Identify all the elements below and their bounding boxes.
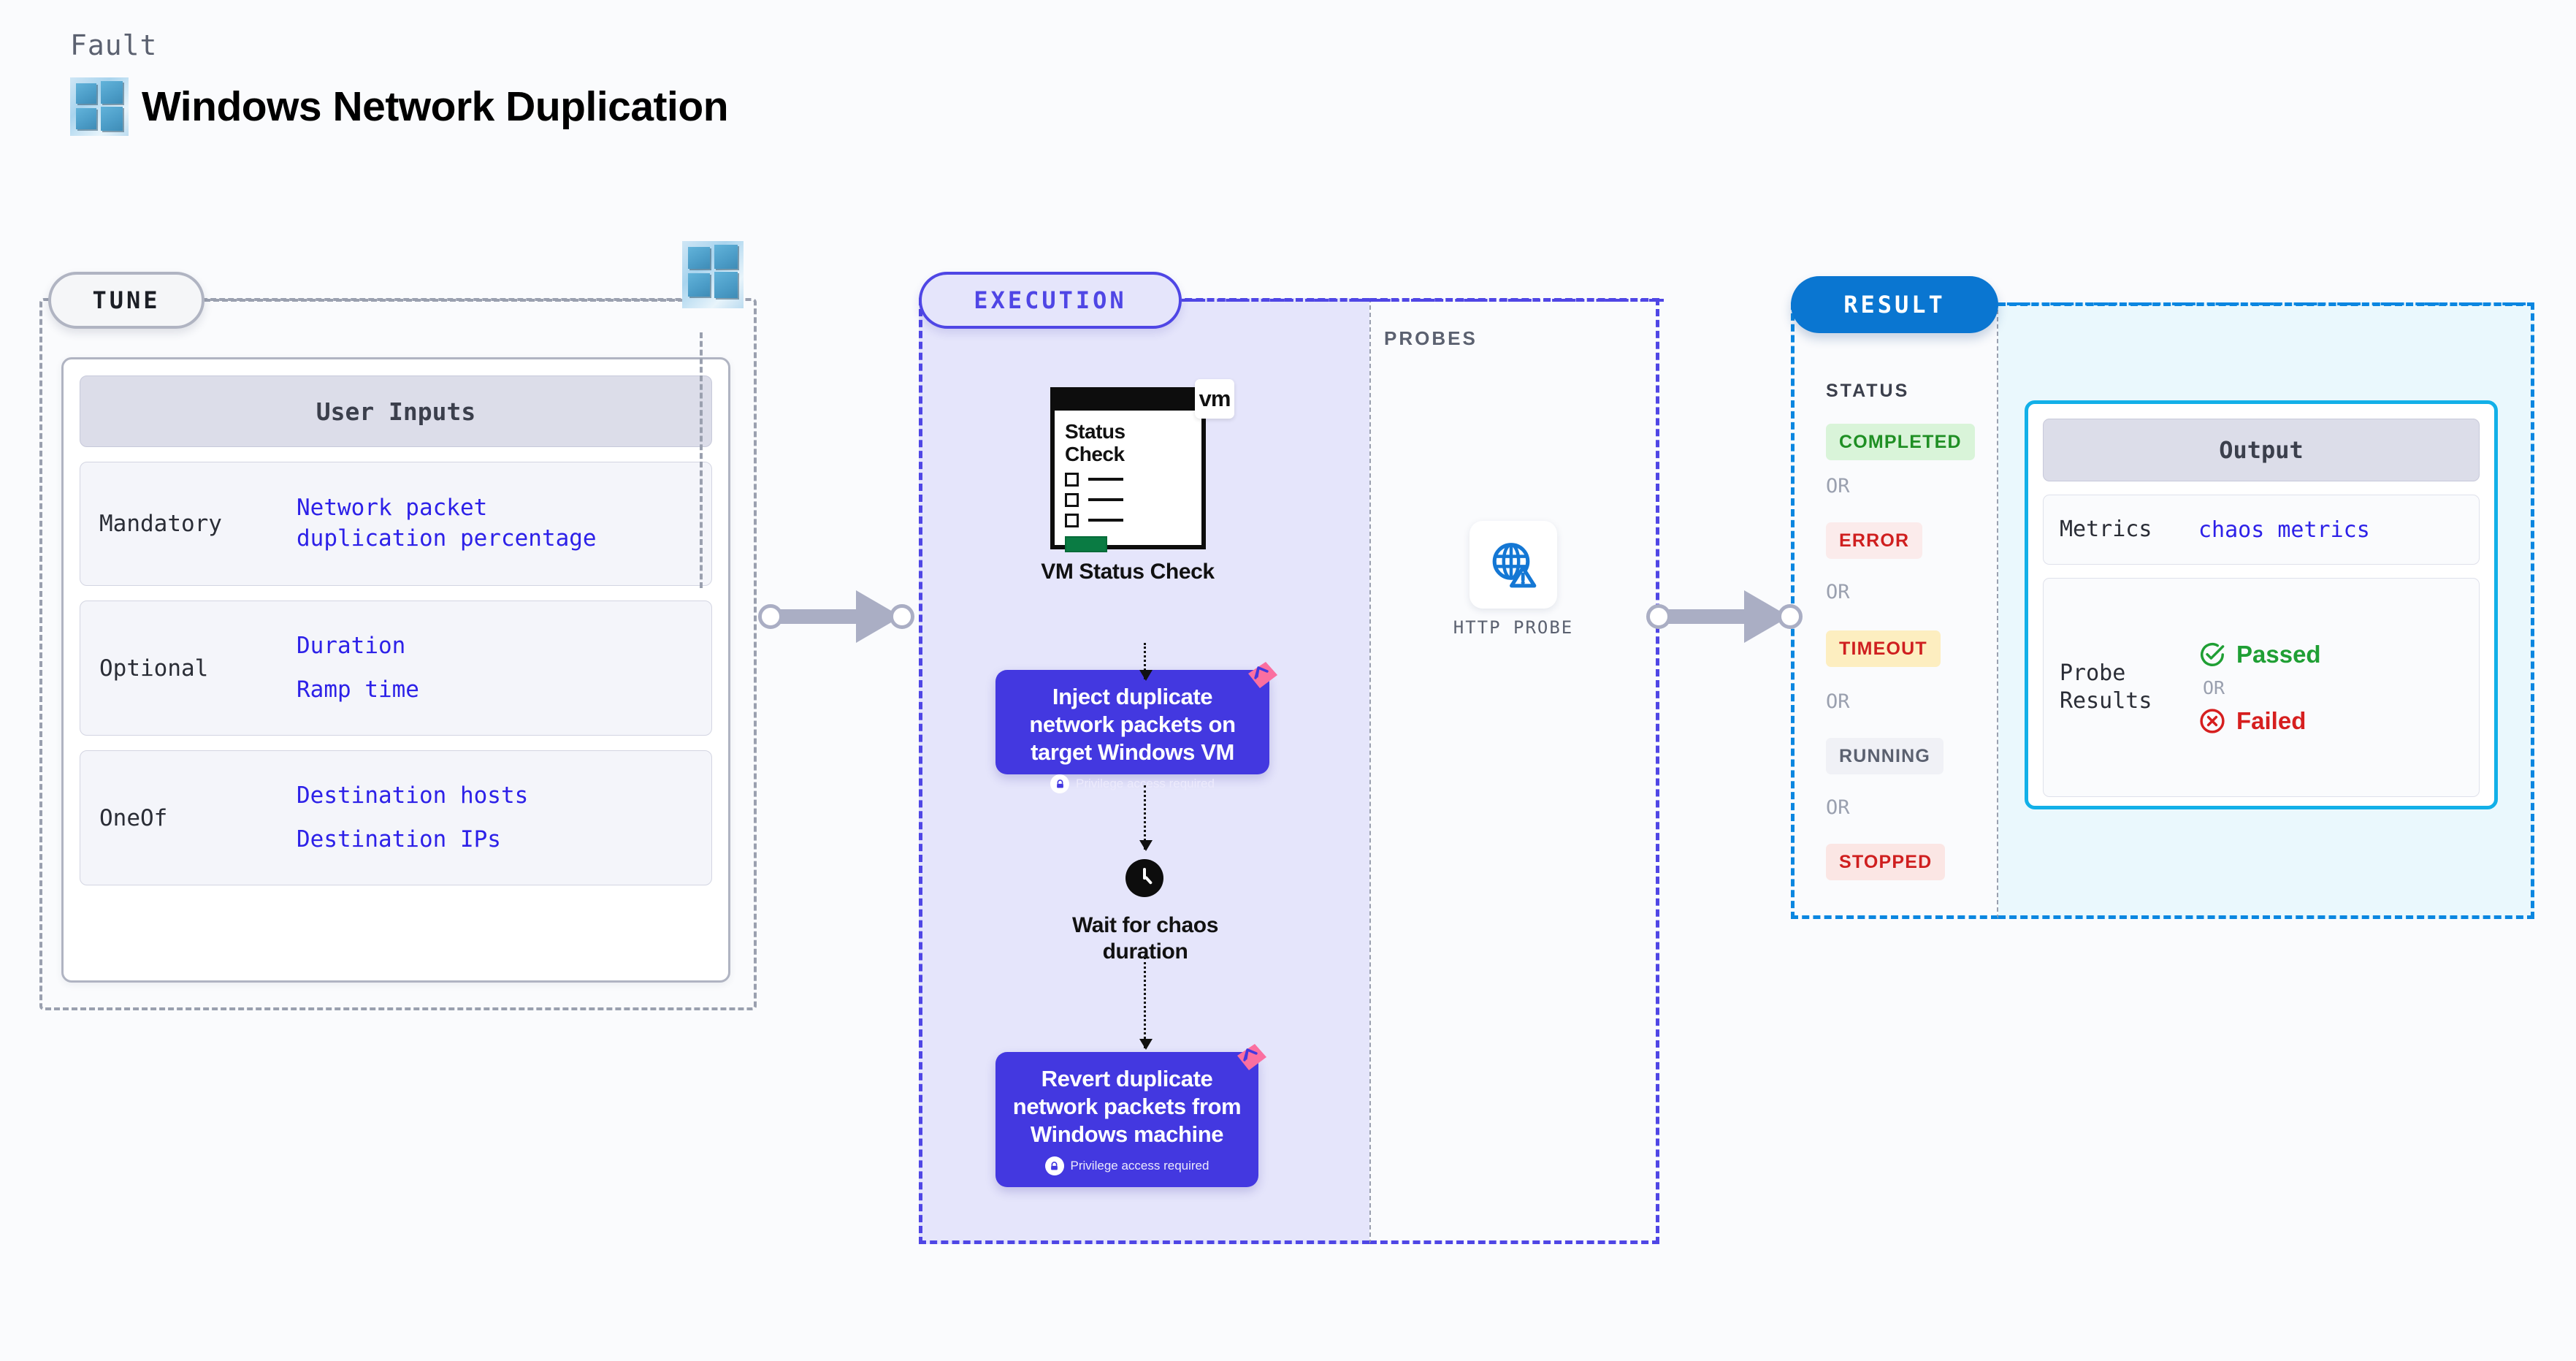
status-badge-label: RUNNING: [1839, 746, 1930, 767]
status-badge-label: STOPPED: [1839, 852, 1932, 873]
tune-connector-line: [205, 299, 701, 302]
status-badge-stopped[interactable]: STOPPED: [1826, 844, 1945, 880]
x-circle-icon: [2198, 707, 2226, 735]
status-badge-error[interactable]: ERROR: [1826, 522, 1922, 559]
execution-connector-line: [1182, 299, 1664, 302]
clock-icon: [1125, 859, 1163, 897]
tune-connector-vline: [700, 332, 703, 588]
passed-label: Passed: [2236, 641, 2321, 668]
vm-checklist-row: [1065, 493, 1201, 507]
arrow-start-dot: [758, 604, 783, 629]
status-or-1: OR: [1826, 475, 1850, 497]
probe-results-values: Passed OR Failed: [2198, 641, 2321, 735]
output-row-probe-results[interactable]: Probe Results Passed OR Failed: [2043, 578, 2480, 797]
vm-checklist-row: [1065, 473, 1201, 487]
output-header: Output: [2043, 419, 2480, 481]
execution-pill[interactable]: EXECUTION: [919, 272, 1182, 329]
vm-status-check-icon: Status Check vm: [1050, 387, 1206, 549]
result-connector-line: [1998, 302, 2534, 305]
input-row-label: Mandatory: [99, 511, 297, 537]
vm-status-bar: [1065, 536, 1107, 552]
mandatory-value-line2: duplication percentage: [297, 525, 597, 552]
input-row-values: Duration Ramp time: [297, 631, 419, 706]
http-probe-caption: HTTP PROBE: [1426, 617, 1601, 638]
lock-icon: [1045, 1156, 1064, 1175]
oneof-value-hosts: Destination hosts: [297, 782, 528, 809]
inject-chaos-step[interactable]: Inject duplicate network packets on targ…: [995, 670, 1269, 774]
probe-or: OR: [2203, 677, 2321, 698]
status-badge-label: TIMEOUT: [1839, 638, 1927, 660]
status-badge-timeout[interactable]: TIMEOUT: [1826, 630, 1941, 667]
status-or-3: OR: [1826, 690, 1850, 713]
probe-result-failed: Failed: [2198, 707, 2321, 735]
vm-status-check-caption: VM Status Check: [1033, 560, 1223, 584]
status-badge-running[interactable]: RUNNING: [1826, 738, 1944, 774]
vm-badge-icon: vm: [1195, 379, 1234, 419]
probes-region: [1369, 298, 1659, 1244]
vm-heading-line2: Check: [1065, 443, 1125, 465]
vm-status-check-step[interactable]: Status Check vm VM Status Check: [1050, 387, 1222, 584]
metrics-value: chaos metrics: [2198, 517, 2370, 543]
status-badge-label: COMPLETED: [1839, 432, 1962, 453]
input-row-optional[interactable]: Optional Duration Ramp time: [80, 601, 712, 736]
page-title: Windows Network Duplication: [142, 83, 728, 131]
status-badge-label: ERROR: [1839, 530, 1909, 552]
input-row-label: OneOf: [99, 805, 297, 831]
status-or-4: OR: [1826, 796, 1850, 819]
optional-value-ramp-time: Ramp time: [297, 676, 419, 703]
privilege-text: Privilege access required: [1071, 1159, 1209, 1173]
vm-card-body: Status Check: [1055, 411, 1201, 552]
arrow-tune-to-execution: [754, 599, 926, 636]
arrow-end-dot: [1778, 604, 1803, 629]
vm-checklist-row: [1065, 514, 1201, 527]
flow-arrow-3: [1144, 957, 1146, 1048]
flow-arrow-2: [1144, 785, 1146, 850]
flow-arrow-1: [1144, 643, 1146, 679]
arrow-execution-to-result: [1642, 599, 1814, 636]
metrics-label: Metrics: [2060, 516, 2198, 544]
checkbox-icon: [1065, 473, 1079, 487]
revert-privilege-note: Privilege access required: [1007, 1156, 1247, 1175]
output-row-metrics[interactable]: Metrics chaos metrics: [2043, 495, 2480, 565]
title-row: Windows Network Duplication: [70, 77, 728, 136]
vm-card-titlebar: [1055, 392, 1201, 411]
litmus-flag-icon: [1234, 1041, 1269, 1076]
user-inputs-card: User Inputs Mandatory Network packet dup…: [61, 357, 730, 983]
lock-icon: [1050, 774, 1069, 793]
input-row-values: Destination hosts Destination IPs: [297, 781, 528, 855]
status-badge-completed[interactable]: COMPLETED: [1826, 424, 1975, 460]
arrow-start-dot: [1646, 604, 1671, 629]
litmus-flag-icon: [1245, 659, 1280, 694]
mandatory-value-line1: Network packet: [297, 495, 487, 521]
arrow-end-dot: [890, 604, 914, 629]
inject-privilege-note: Privilege access required: [1007, 774, 1258, 793]
probes-section-label: PROBES: [1384, 327, 1478, 350]
status-label: STATUS: [1826, 381, 1909, 402]
probe-label-line1: Probe: [2060, 660, 2125, 686]
globe-warning-icon: [1487, 538, 1540, 591]
checkbox-icon: [1065, 493, 1079, 507]
http-probe-tile[interactable]: [1469, 521, 1557, 609]
revert-chaos-step[interactable]: Revert duplicate network packets from Wi…: [995, 1052, 1258, 1187]
fault-label: Fault: [70, 29, 728, 61]
tune-windows-icon: [682, 241, 744, 308]
revert-box-title: Revert duplicate network packets from Wi…: [1007, 1065, 1247, 1148]
failed-label: Failed: [2236, 707, 2306, 735]
check-circle-icon: [2198, 641, 2226, 668]
inject-box-title: Inject duplicate network packets on targ…: [1007, 683, 1258, 766]
oneof-value-ips: Destination IPs: [297, 826, 501, 853]
output-card: Output Metrics chaos metrics Probe Resul…: [2025, 400, 2498, 809]
probe-results-label: Probe Results: [2060, 660, 2198, 716]
user-inputs-header: User Inputs: [80, 375, 712, 447]
input-row-label: Optional: [99, 655, 297, 682]
checkbox-icon: [1065, 514, 1079, 527]
result-pill[interactable]: RESULT: [1791, 276, 1998, 333]
input-row-values: Network packet duplication percentage: [297, 493, 597, 554]
windows-logo-icon: [70, 77, 129, 136]
probe-result-passed: Passed: [2198, 641, 2321, 668]
vm-heading-line1: Status: [1065, 420, 1125, 443]
input-row-oneof[interactable]: OneOf Destination hosts Destination IPs: [80, 750, 712, 885]
status-or-2: OR: [1826, 581, 1850, 603]
input-row-mandatory[interactable]: Mandatory Network packet duplication per…: [80, 462, 712, 586]
optional-value-duration: Duration: [297, 633, 405, 659]
vm-card-heading: Status Check: [1065, 421, 1201, 466]
probe-label-line2: Results: [2060, 688, 2152, 714]
tune-pill[interactable]: TUNE: [48, 272, 205, 329]
page-header: Fault Windows Network Duplication: [70, 29, 728, 136]
